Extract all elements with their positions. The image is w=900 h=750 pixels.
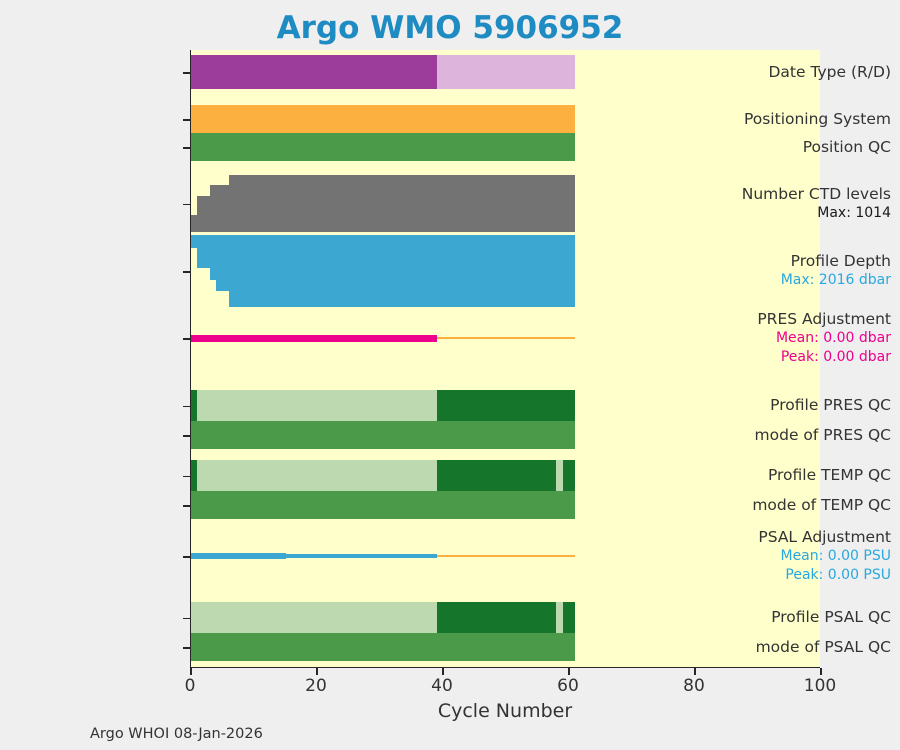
adjustment-line — [191, 335, 437, 342]
page-title: Argo WMO 5906952 — [0, 10, 900, 46]
y-tick — [183, 72, 191, 74]
row-label-psal_adj: PSAL Adjustment — [710, 528, 900, 547]
bar-segment — [191, 133, 575, 161]
row-label-date_type: Date Type (R/D) — [710, 63, 900, 82]
step-bar — [229, 175, 576, 232]
bar-segment — [563, 460, 576, 491]
step-bar-inverted — [216, 235, 229, 291]
row-label-mode_temp_qc: mode of TEMP QC — [710, 496, 900, 515]
y-tick — [183, 338, 191, 340]
adjustment-line — [437, 555, 576, 557]
y-tick — [183, 505, 191, 507]
row-sublabel-psal_adj-0: Mean: 0.00 PSU — [710, 547, 900, 566]
adjustment-line — [286, 554, 437, 558]
y-tick — [183, 618, 191, 620]
y-tick — [183, 271, 191, 273]
y-tick — [183, 147, 191, 149]
y-tick — [183, 647, 191, 649]
row-label-mode_psal_qc: mode of PSAL QC — [710, 638, 900, 657]
bar-segment — [437, 390, 576, 421]
step-bar-inverted — [197, 235, 210, 268]
y-tick — [183, 435, 191, 437]
row-label-positioning: Positioning System — [710, 110, 900, 129]
row-sublabel-ctd_levels-0: Max: 1014 — [710, 204, 900, 223]
y-tick — [183, 406, 191, 408]
x-tick-label: 40 — [412, 676, 472, 696]
x-tick — [694, 668, 696, 675]
bar-segment — [437, 460, 557, 491]
x-tick-label: 0 — [160, 676, 220, 696]
row-sublabel-profile_depth-0: Max: 2016 dbar — [710, 271, 900, 290]
bar-segment — [191, 421, 575, 449]
row-label-ctd_levels: Number CTD levels — [710, 185, 900, 204]
step-bar — [210, 185, 229, 232]
row-sublabel-pres_adj-0: Mean: 0.00 dbar — [710, 329, 900, 348]
bar-segment — [191, 105, 575, 133]
y-tick — [183, 119, 191, 121]
adjustment-line — [191, 553, 286, 559]
x-tick — [316, 668, 318, 675]
bar-segment — [437, 602, 557, 633]
footer-credit: Argo WHOI 08-Jan-2026 — [90, 726, 263, 742]
row-label-profile_psal_qc: Profile PSAL QC — [710, 608, 900, 627]
row-sublabel-psal_adj-1: Peak: 0.00 PSU — [710, 566, 900, 585]
row-label-position_qc: Position QC — [710, 138, 900, 157]
x-tick — [820, 668, 822, 675]
bar-segment — [197, 390, 436, 421]
bar-segment — [191, 602, 437, 633]
row-label-profile_pres_qc: Profile PRES QC — [710, 396, 900, 415]
row-sublabel-pres_adj-1: Peak: 0.00 dbar — [710, 348, 900, 367]
step-bar — [197, 196, 210, 232]
x-tick — [568, 668, 570, 675]
bar-segment — [437, 55, 576, 89]
row-label-pres_adj: PRES Adjustment — [710, 310, 900, 329]
bar-segment — [191, 633, 575, 661]
y-tick — [183, 556, 191, 558]
step-bar-inverted — [229, 235, 576, 307]
x-tick — [442, 668, 444, 675]
x-tick — [190, 668, 192, 675]
bar-segment — [191, 55, 437, 89]
x-tick-label: 80 — [664, 676, 724, 696]
x-tick-label: 60 — [538, 676, 598, 696]
argo-float-summary-figure: Argo WMO 5906952 Date Type (R/D)Position… — [0, 0, 900, 750]
bar-segment — [191, 491, 575, 519]
y-tick — [183, 476, 191, 478]
y-tick — [183, 204, 191, 206]
row-label-profile_temp_qc: Profile TEMP QC — [710, 466, 900, 485]
x-tick-label: 100 — [790, 676, 850, 696]
x-tick-label: 20 — [286, 676, 346, 696]
row-label-mode_pres_qc: mode of PRES QC — [710, 426, 900, 445]
x-axis-title: Cycle Number — [190, 700, 820, 722]
bar-segment — [563, 602, 576, 633]
bar-segment — [197, 460, 436, 491]
adjustment-line — [437, 337, 576, 339]
row-label-profile_depth: Profile Depth — [710, 252, 900, 271]
